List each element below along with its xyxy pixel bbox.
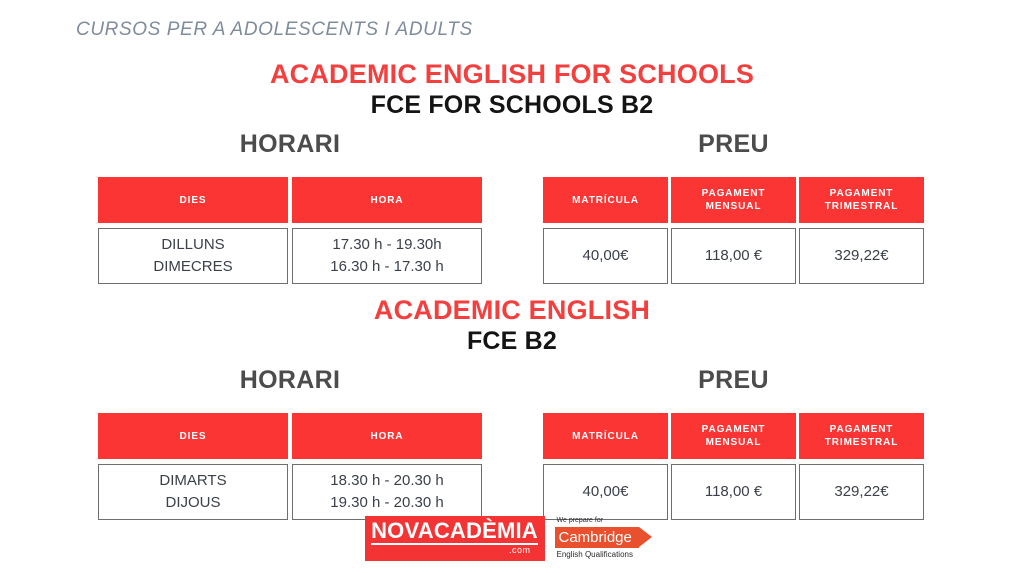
course-title-1: ACADEMIC ENGLISH [0,294,1024,326]
schedule-cell-hora-line1-0: 17.30 h - 19.30h [332,234,441,256]
price-value-trimestral-1: 329,22€ [834,481,888,503]
schedule-table-1: DIES DIMARTS DIJOUS HORA 18.30 h - 20.30… [98,413,482,520]
schedule-header-hora-0: HORA [292,177,482,223]
price-cell-matricula-0: 40,00€ [543,228,668,284]
price-header-mensual-line2-1: MENSUAL [702,436,766,449]
schedule-cell-hora-0: 17.30 h - 19.30h 16.30 h - 17.30 h [292,228,482,284]
price-header-matricula-1: MATRÍCULA [543,413,668,459]
schedule-heading-1: HORARI [98,366,482,394]
schedule-heading-0: HORARI [98,130,482,158]
novacademia-logo: NOVACADÈMIA .com [365,516,545,561]
schedule-cell-hora-line2-0: 16.30 h - 17.30 h [330,256,443,278]
schedule-cell-dies-0: DILLUNS DIMECRES [98,228,288,284]
schedule-panel-1: HORARI DIES DIMARTS DIJOUS HORA 18.30 h … [98,366,482,520]
cambridge-tagline-top: We prepare for [557,516,660,525]
price-column-mensual-0: PAGAMENT MENSUAL 118,00 € [671,177,796,284]
price-header-trimestral-line2-0: TRIMESTRAL [825,200,898,213]
price-header-mensual-0: PAGAMENT MENSUAL [671,177,796,223]
price-column-trimestral-1: PAGAMENT TRIMESTRAL 329,22€ [799,413,924,520]
price-value-trimestral-0: 329,22€ [834,245,888,267]
novacademia-domain: .com [509,545,531,556]
schedule-column-dies-1: DIES DIMARTS DIJOUS [98,413,288,520]
cambridge-logo: We prepare for Cambridge English Qualifi… [555,515,660,562]
price-cell-mensual-0: 118,00 € [671,228,796,284]
course-panels-1: HORARI DIES DIMARTS DIJOUS HORA 18.30 h … [0,366,1024,506]
price-column-matricula-0: MATRÍCULA 40,00€ [543,177,668,284]
schedule-cell-dies-line1-1: DIMARTS [159,470,226,492]
course-subtitle-1: FCE B2 [0,326,1024,356]
cambridge-tagline-bottom: English Qualifications [557,550,660,560]
schedule-header-dies-0: DIES [98,177,288,223]
cambridge-arrow-icon [639,527,652,547]
price-heading-0: PREU [543,130,924,158]
schedule-column-hora-0: HORA 17.30 h - 19.30h 16.30 h - 17.30 h [292,177,482,284]
price-header-trimestral-1: PAGAMENT TRIMESTRAL [799,413,924,459]
novacademia-wordmark: NOVACADÈMIA [371,520,538,545]
price-header-trimestral-line2-1: TRIMESTRAL [825,436,898,449]
price-table-1: MATRÍCULA 40,00€ PAGAMENT MENSUAL [543,413,924,520]
price-header-mensual-1: PAGAMENT MENSUAL [671,413,796,459]
price-heading-1: PREU [543,366,924,394]
cambridge-wordmark: Cambridge [555,527,639,548]
schedule-column-dies-0: DIES DILLUNS DIMECRES [98,177,288,284]
price-table-0: MATRÍCULA 40,00€ PAGAMENT MENSUAL [543,177,924,284]
price-value-matricula-0: 40,00€ [583,245,629,267]
schedule-panel-0: HORARI DIES DILLUNS DIMECRES HORA 17.30 … [98,130,482,284]
footer-logos: NOVACADÈMIA .com We prepare for Cambridg… [0,508,1024,568]
course-panels-0: HORARI DIES DILLUNS DIMECRES HORA 17.30 … [0,130,1024,270]
poster-canvas: CURSOS PER A ADOLESCENTS I ADULTS ACADEM… [0,0,1024,573]
cambridge-banner: Cambridge [555,527,660,548]
course-block-1: ACADEMIC ENGLISH FCE B2 HORARI DIES DIMA… [0,294,1024,506]
price-header-trimestral-line1-0: PAGAMENT [825,187,898,200]
price-column-trimestral-0: PAGAMENT TRIMESTRAL 329,22€ [799,177,924,284]
price-value-matricula-1: 40,00€ [583,481,629,503]
price-header-matricula-0: MATRÍCULA [543,177,668,223]
price-column-matricula-1: MATRÍCULA 40,00€ [543,413,668,520]
price-header-mensual-line1-0: PAGAMENT [702,187,766,200]
price-header-mensual-line2-0: MENSUAL [702,200,766,213]
course-title-0: ACADEMIC ENGLISH FOR SCHOOLS [0,58,1024,90]
schedule-cell-dies-line2-0: DIMECRES [153,256,232,278]
schedule-table-0: DIES DILLUNS DIMECRES HORA 17.30 h - 19.… [98,177,482,284]
price-panel-0: PREU MATRÍCULA 40,00€ PAGAMENT [543,130,924,284]
schedule-column-hora-1: HORA 18.30 h - 20.30 h 19.30 h - 20.30 h [292,413,482,520]
price-header-mensual-line1-1: PAGAMENT [702,423,766,436]
price-panel-1: PREU MATRÍCULA 40,00€ PAGAMENT [543,366,924,520]
price-header-trimestral-0: PAGAMENT TRIMESTRAL [799,177,924,223]
price-value-mensual-0: 118,00 € [705,245,762,267]
price-value-mensual-1: 118,00 € [705,481,762,503]
schedule-cell-hora-line1-1: 18.30 h - 20.30 h [330,470,443,492]
course-subtitle-0: FCE FOR SCHOOLS B2 [0,90,1024,120]
schedule-header-hora-1: HORA [292,413,482,459]
schedule-cell-dies-line1-0: DILLUNS [161,234,224,256]
price-header-trimestral-line1-1: PAGAMENT [825,423,898,436]
price-header-matricula-line1-0: MATRÍCULA [572,194,639,207]
course-block-0: ACADEMIC ENGLISH FOR SCHOOLS FCE FOR SCH… [0,58,1024,270]
price-column-mensual-1: PAGAMENT MENSUAL 118,00 € [671,413,796,520]
price-header-matricula-line1-1: MATRÍCULA [572,430,639,443]
price-cell-trimestral-0: 329,22€ [799,228,924,284]
schedule-header-dies-1: DIES [98,413,288,459]
kicker-text: CURSOS PER A ADOLESCENTS I ADULTS [76,19,473,41]
